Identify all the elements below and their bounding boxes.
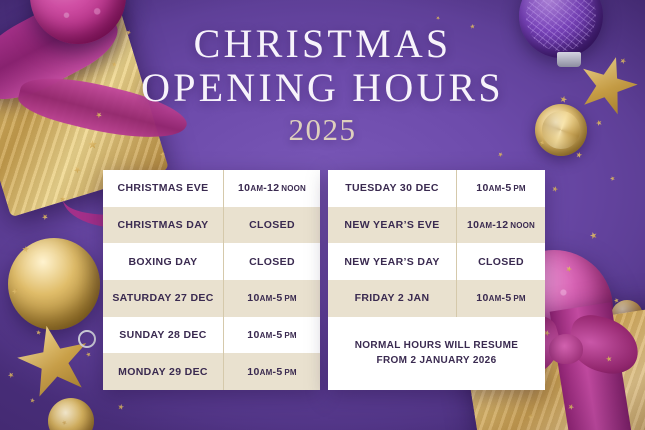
- footer-line-2-prefix: FROM: [376, 355, 410, 366]
- right-hours-table: TUESDAY 30 DEC10AM-5 PMNEW YEAR’S EVE10A…: [328, 170, 545, 390]
- footer-text: NORMAL HOURS WILL RESUMEFROM 2 JANUARY 2…: [355, 338, 519, 368]
- hours-cell: 10AM-5 PM: [457, 170, 545, 207]
- table-row: SUNDAY 28 DEC10AM-5 PM: [103, 317, 320, 354]
- hours-value: CLOSED: [249, 219, 295, 231]
- day-label-cell: NEW YEAR’S EVE: [328, 207, 457, 244]
- hours-value: 10AM-12 NOON: [238, 182, 306, 194]
- hours-cell: CLOSED: [457, 243, 545, 280]
- table-row: TUESDAY 30 DEC10AM-5 PM: [328, 170, 545, 207]
- poster-heading: CHRISTMAS OPENING HOURS 2025: [0, 22, 645, 148]
- hours-value: CLOSED: [478, 256, 524, 268]
- day-label-cell: SUNDAY 28 DEC: [103, 317, 224, 354]
- heading-line-1: CHRISTMAS: [0, 22, 645, 66]
- table-row: FRIDAY 2 JAN10AM-5 PM: [328, 280, 545, 317]
- normal-hours-resume-note: NORMAL HOURS WILL RESUMEFROM 2 JANUARY 2…: [328, 317, 545, 390]
- day-label-cell: MONDAY 29 DEC: [103, 353, 224, 390]
- hours-value: 10AM-5 PM: [247, 292, 296, 304]
- hours-cell: 10AM-5 PM: [224, 317, 320, 354]
- hours-value: 10AM-5 PM: [476, 292, 525, 304]
- hours-cell: 10AM-5 PM: [224, 353, 320, 390]
- hours-cell: CLOSED: [224, 207, 320, 244]
- table-row: NEW YEAR’S DAYCLOSED: [328, 243, 545, 280]
- table-row: SATURDAY 27 DEC10AM-5 PM: [103, 280, 320, 317]
- hours-value: CLOSED: [249, 256, 295, 268]
- footer-line-1: NORMAL HOURS WILL RESUME: [355, 340, 519, 351]
- christmas-opening-hours-poster: CHRISTMAS OPENING HOURS 2025 CHRISTMAS E…: [0, 0, 645, 430]
- hours-cell: CLOSED: [224, 243, 320, 280]
- heading-year: 2025: [0, 112, 645, 148]
- hours-cell: 10AM-12 NOON: [224, 170, 320, 207]
- hours-value: 10AM-5 PM: [247, 366, 296, 378]
- day-label-cell: SATURDAY 27 DEC: [103, 280, 224, 317]
- table-row: BOXING DAYCLOSED: [103, 243, 320, 280]
- table-row: CHRISTMAS EVE10AM-12 NOON: [103, 170, 320, 207]
- hours-cell: 10AM-12 NOON: [457, 207, 545, 244]
- opening-hours-tables: CHRISTMAS EVE10AM-12 NOONCHRISTMAS DAYCL…: [103, 170, 545, 390]
- footer-resume-date: 2 JANUARY 2026: [410, 355, 496, 366]
- hours-cell: 10AM-5 PM: [224, 280, 320, 317]
- hours-value: 10AM-12 NOON: [467, 219, 535, 231]
- day-label-cell: NEW YEAR’S DAY: [328, 243, 457, 280]
- table-row: CHRISTMAS DAYCLOSED: [103, 207, 320, 244]
- table-row: MONDAY 29 DEC10AM-5 PM: [103, 353, 320, 390]
- hours-value: 10AM-5 PM: [476, 182, 525, 194]
- day-label-cell: CHRISTMAS EVE: [103, 170, 224, 207]
- hours-value: 10AM-5 PM: [247, 329, 296, 341]
- heading-line-2: OPENING HOURS: [0, 66, 645, 110]
- hours-cell: 10AM-5 PM: [457, 280, 545, 317]
- left-hours-table: CHRISTMAS EVE10AM-12 NOONCHRISTMAS DAYCL…: [103, 170, 320, 390]
- table-row: NEW YEAR’S EVE10AM-12 NOON: [328, 207, 545, 244]
- day-label-cell: CHRISTMAS DAY: [103, 207, 224, 244]
- day-label-cell: BOXING DAY: [103, 243, 224, 280]
- day-label-cell: TUESDAY 30 DEC: [328, 170, 457, 207]
- day-label-cell: FRIDAY 2 JAN: [328, 280, 457, 317]
